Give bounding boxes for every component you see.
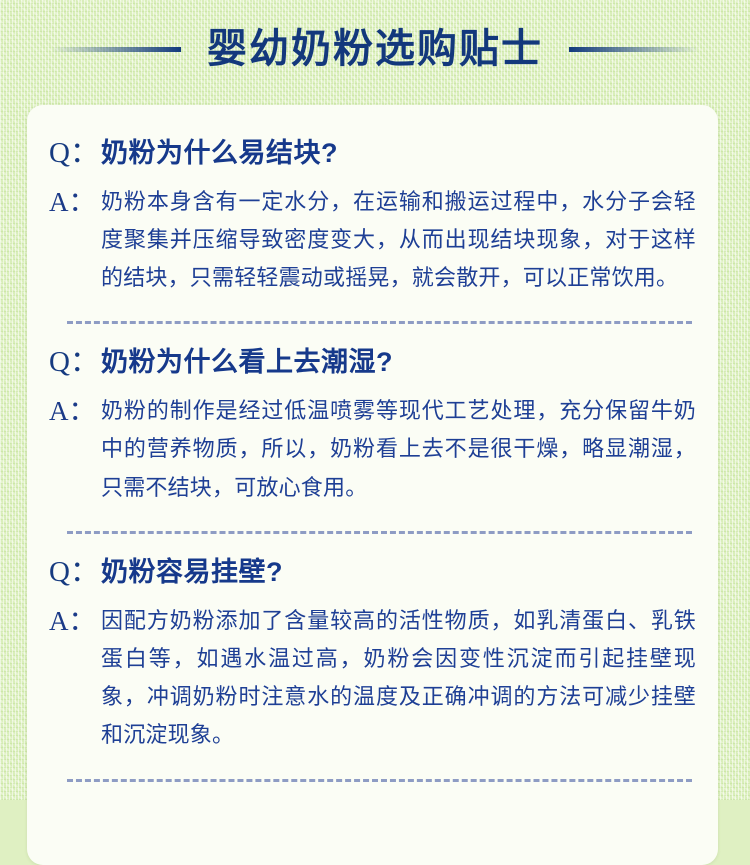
section-divider (67, 531, 692, 534)
question-text: 奶粉为什么易结块? (101, 139, 338, 169)
qa-item: Q： 奶粉为什么看上去潮湿? A： 奶粉的制作是经过低温喷雾等现代工艺处理，充分… (49, 348, 696, 506)
answer-text: 奶粉本身含有一定水分，在运输和搬运过程中，水分子会轻度聚集并压缩导致密度变大，从… (101, 183, 696, 298)
question-text: 奶粉容易挂壁? (101, 558, 283, 588)
question-row: Q： 奶粉为什么易结块? (49, 139, 696, 169)
page-title: 婴幼奶粉选购贴士 (207, 29, 543, 69)
question-row: Q： 奶粉容易挂壁? (49, 558, 696, 588)
qa-item: Q： 奶粉为什么易结块? A： 奶粉本身含有一定水分，在运输和搬运过程中，水分子… (49, 139, 696, 297)
answer-marker: A： (49, 602, 101, 640)
answer-row: A： 奶粉的制作是经过低温喷雾等现代工艺处理，充分保留牛奶中的营养物质，所以，奶… (49, 392, 696, 507)
question-row: Q： 奶粉为什么看上去潮湿? (49, 348, 696, 378)
title-rule-left-icon (53, 47, 181, 52)
section-divider (67, 779, 692, 782)
answer-row: A： 因配方奶粉添加了含量较高的活性物质，如乳清蛋白、乳铁蛋白等，如遇水温过高，… (49, 602, 696, 755)
answer-text: 奶粉的制作是经过低温喷雾等现代工艺处理，充分保留牛奶中的营养物质，所以，奶粉看上… (101, 392, 696, 507)
section-divider (67, 321, 692, 324)
qa-item: Q： 奶粉容易挂壁? A： 因配方奶粉添加了含量较高的活性物质，如乳清蛋白、乳铁… (49, 558, 696, 755)
answer-text: 因配方奶粉添加了含量较高的活性物质，如乳清蛋白、乳铁蛋白等，如遇水温过高，奶粉会… (101, 602, 696, 755)
qa-list: Q： 奶粉为什么易结块? A： 奶粉本身含有一定水分，在运输和搬运过程中，水分子… (27, 105, 718, 782)
answer-marker: A： (49, 392, 101, 430)
title-rule-right-icon (569, 47, 697, 52)
answer-row: A： 奶粉本身含有一定水分，在运输和搬运过程中，水分子会轻度聚集并压缩导致密度变… (49, 183, 696, 298)
qa-card: Q： 奶粉为什么易结块? A： 奶粉本身含有一定水分，在运输和搬运过程中，水分子… (27, 105, 718, 865)
answer-marker: A： (49, 183, 101, 221)
question-marker: Q： (49, 139, 101, 168)
question-marker: Q： (49, 348, 101, 377)
question-text: 奶粉为什么看上去潮湿? (101, 348, 393, 378)
page-header: 婴幼奶粉选购贴士 (0, 0, 750, 98)
question-marker: Q： (49, 558, 101, 587)
